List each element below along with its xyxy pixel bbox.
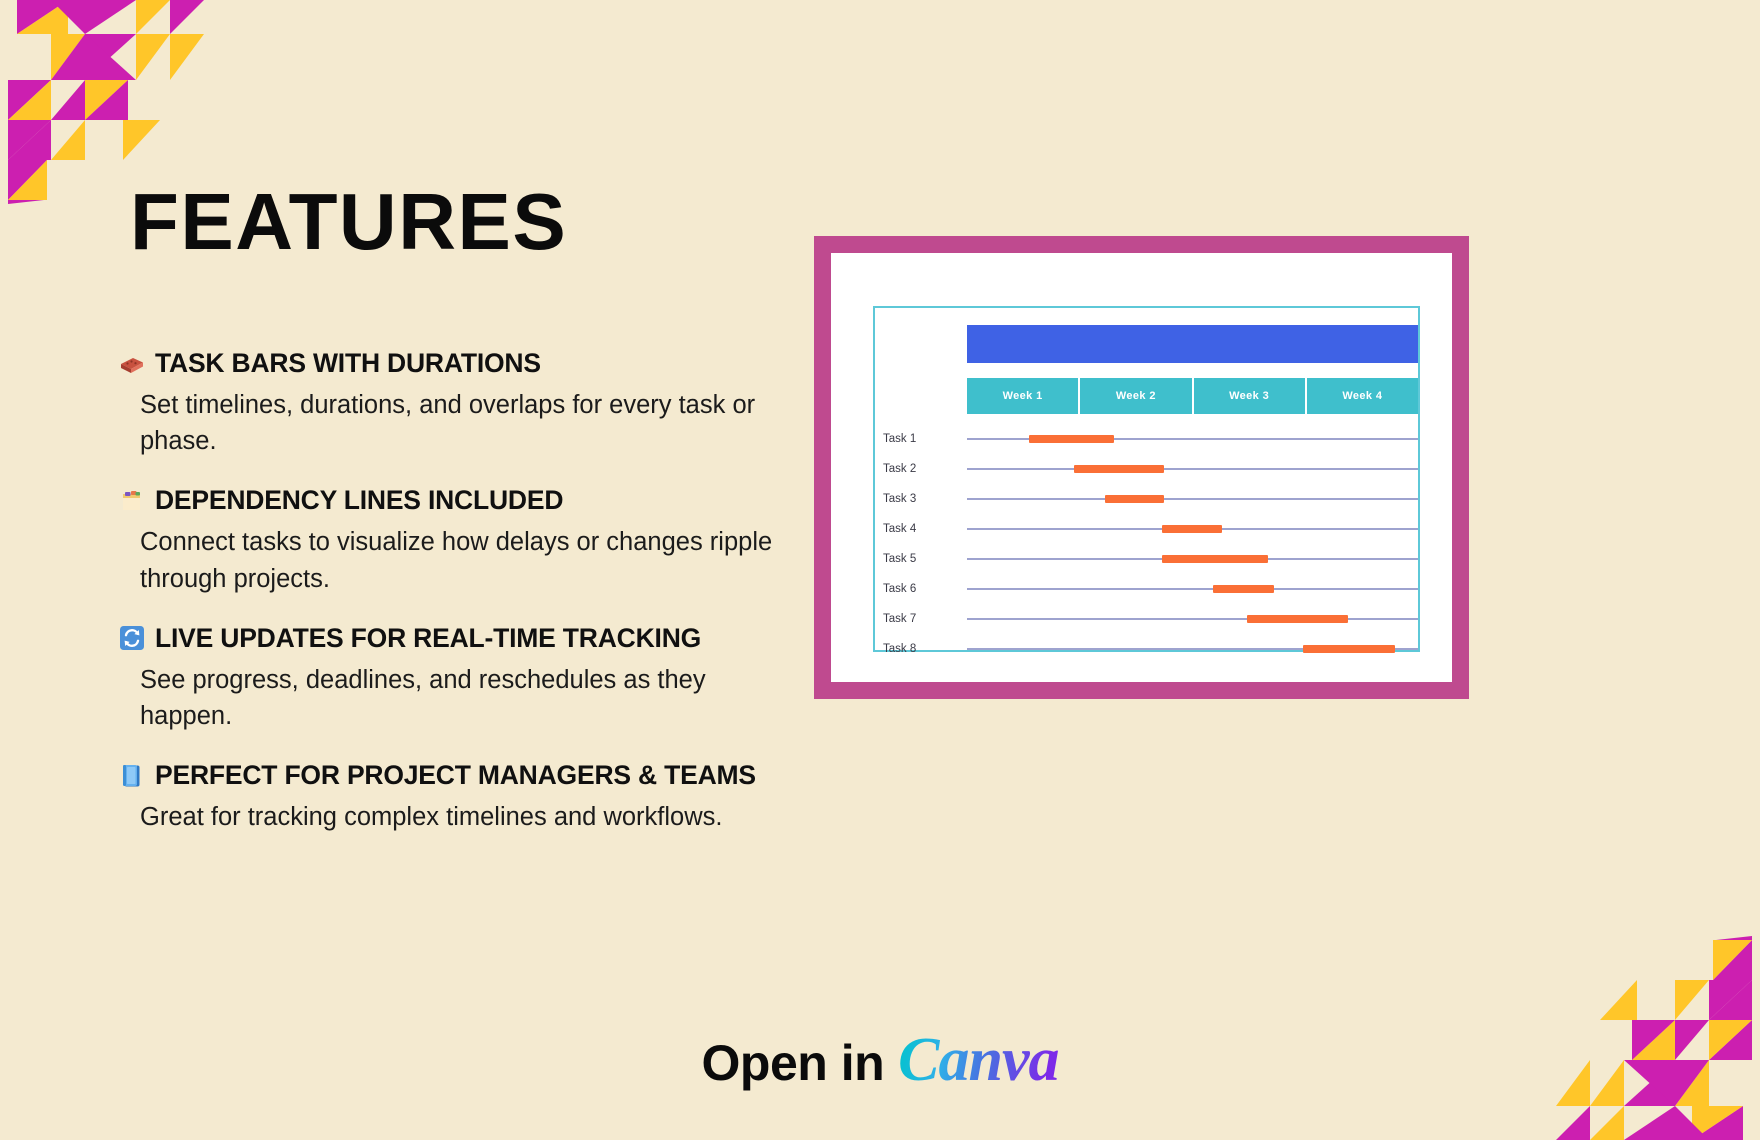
feature-item-task-bars: TASK BARS WITH DURATIONS Set timelines, … <box>118 348 838 459</box>
feature-heading-row: LIVE UPDATES FOR REAL-TIME TRACKING <box>118 623 838 654</box>
canva-brand-wordmark: Canva <box>898 1029 1058 1091</box>
gantt-task-bar[interactable] <box>1162 525 1222 533</box>
gantt-week-cell-1: Week 1 <box>967 378 1078 414</box>
gantt-task-row: Task 2 <box>875 454 1418 484</box>
refresh-sync-icon <box>118 624 146 652</box>
features-list: TASK BARS WITH DURATIONS Set timelines, … <box>118 348 838 835</box>
gantt-task-track <box>967 558 1418 560</box>
gantt-task-track <box>967 648 1418 650</box>
feature-description: Great for tracking complex timelines and… <box>118 799 780 835</box>
gantt-title-bar <box>967 325 1418 363</box>
feature-title: PERFECT FOR PROJECT MANAGERS & TEAMS <box>155 760 756 791</box>
gantt-week-header: Week 1Week 2Week 3Week 4 <box>967 378 1418 414</box>
gantt-task-rows: Task 1Task 2Task 3Task 4Task 5Task 6Task… <box>875 424 1418 650</box>
gantt-task-label: Task 5 <box>883 553 916 565</box>
gantt-task-track <box>967 498 1418 500</box>
gantt-week-cell-2: Week 2 <box>1080 378 1191 414</box>
gantt-task-track <box>967 438 1418 440</box>
gantt-task-track <box>967 528 1418 530</box>
gantt-task-label: Task 8 <box>883 643 916 655</box>
feature-item-live-updates: LIVE UPDATES FOR REAL-TIME TRACKING See … <box>118 623 838 734</box>
gantt-task-bar[interactable] <box>1029 435 1114 443</box>
gantt-task-label: Task 1 <box>883 433 916 445</box>
gantt-task-row: Task 1 <box>875 424 1418 454</box>
gantt-task-bar[interactable] <box>1162 555 1268 563</box>
feature-heading-row: PERFECT FOR PROJECT MANAGERS & TEAMS <box>118 760 838 791</box>
feature-item-project-managers: PERFECT FOR PROJECT MANAGERS & TEAMS Gre… <box>118 760 838 835</box>
page-title: FEATURES <box>130 182 567 262</box>
gantt-task-label: Task 7 <box>883 613 916 625</box>
gantt-task-bar[interactable] <box>1247 615 1348 623</box>
gantt-task-label: Task 2 <box>883 463 916 475</box>
brick-icon <box>118 350 146 378</box>
gantt-task-row: Task 3 <box>875 484 1418 514</box>
feature-title: TASK BARS WITH DURATIONS <box>155 348 541 379</box>
gantt-task-bar[interactable] <box>1213 585 1274 593</box>
feature-item-dependency-lines: DEPENDENCY LINES INCLUDED Connect tasks … <box>118 485 838 596</box>
gantt-task-label: Task 4 <box>883 523 916 535</box>
gantt-chart-canvas: Week 1Week 2Week 3Week 4 Task 1Task 2Tas… <box>831 253 1452 682</box>
gantt-chart-preview-card: Week 1Week 2Week 3Week 4 Task 1Task 2Tas… <box>814 236 1469 699</box>
gantt-task-row: Task 4 <box>875 514 1418 544</box>
gantt-task-bar[interactable] <box>1105 495 1165 503</box>
gantt-week-cell-3: Week 3 <box>1194 378 1305 414</box>
gantt-task-bar[interactable] <box>1303 645 1395 653</box>
gantt-chart-body: Week 1Week 2Week 3Week 4 Task 1Task 2Tas… <box>875 308 1418 650</box>
feature-description: Set timelines, durations, and overlaps f… <box>118 387 780 459</box>
footer-open-in-canva[interactable]: Open in Canva <box>0 1029 1760 1092</box>
feature-title: DEPENDENCY LINES INCLUDED <box>155 485 563 516</box>
gantt-task-track <box>967 618 1418 620</box>
decorative-triangle-pattern-top-left <box>0 0 204 204</box>
card-index-dividers-icon <box>118 487 146 515</box>
gantt-task-track <box>967 588 1418 590</box>
feature-description: Connect tasks to visualize how delays or… <box>118 524 780 596</box>
gantt-task-row: Task 5 <box>875 544 1418 574</box>
gantt-task-row: Task 7 <box>875 604 1418 634</box>
gantt-task-track <box>967 468 1418 470</box>
gantt-task-bar[interactable] <box>1074 465 1164 473</box>
gantt-task-label: Task 6 <box>883 583 916 595</box>
gantt-task-row: Task 6 <box>875 574 1418 604</box>
gantt-week-cell-4: Week 4 <box>1307 378 1418 414</box>
gantt-task-row: Task 8 <box>875 634 1418 664</box>
gantt-task-label: Task 3 <box>883 493 916 505</box>
footer-open-in-label: Open in <box>702 1034 885 1092</box>
feature-description: See progress, deadlines, and reschedules… <box>118 662 780 734</box>
feature-heading-row: TASK BARS WITH DURATIONS <box>118 348 838 379</box>
feature-title: LIVE UPDATES FOR REAL-TIME TRACKING <box>155 623 701 654</box>
feature-heading-row: DEPENDENCY LINES INCLUDED <box>118 485 838 516</box>
blue-book-icon <box>118 762 146 790</box>
